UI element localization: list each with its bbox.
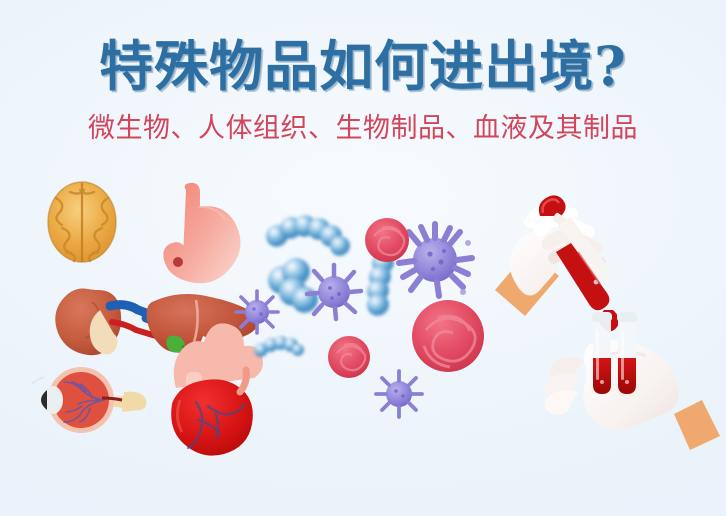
page-title: 特殊物品如何进出境? (0, 36, 726, 96)
poster-header: 特殊物品如何进出境? 微生物、人体组织、生物制品、血液及其制品 (0, 0, 726, 145)
page-subtitle: 微生物、人体组织、生物制品、血液及其制品 (0, 106, 726, 145)
microbe-cluster-region (250, 200, 490, 420)
organ-liver-region (146, 292, 260, 360)
poster-root: 特殊物品如何进出境? 微生物、人体组织、生物制品、血液及其制品 (0, 0, 726, 516)
organ-stomach-region (156, 182, 242, 274)
organ-brain-region (48, 180, 120, 266)
lab-hands-region (495, 190, 720, 440)
organ-eye-region (42, 366, 150, 436)
